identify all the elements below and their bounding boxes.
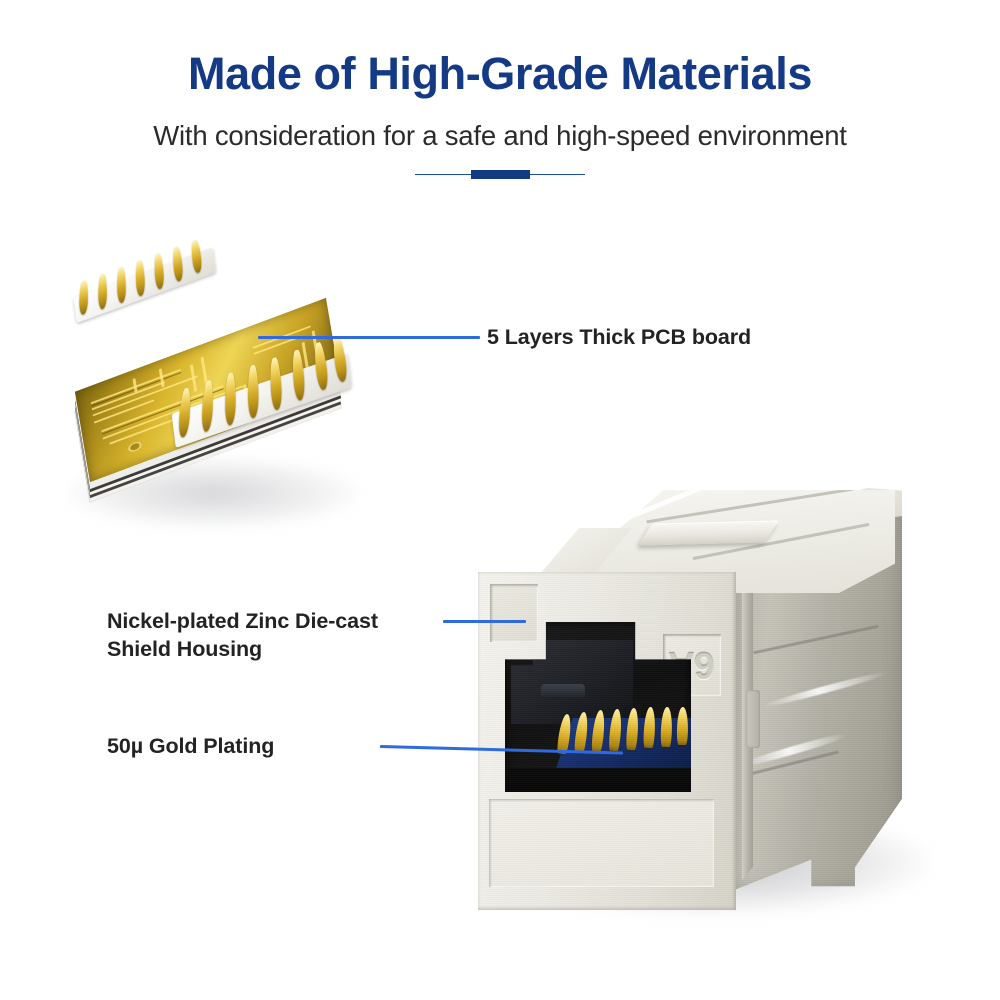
jack-port-latch-slot: [541, 684, 585, 697]
jack-front-bottom-plate: [489, 799, 714, 887]
leader-line-pcb: [258, 336, 480, 339]
page-subtitle: With consideration for a safe and high-s…: [0, 120, 1000, 152]
jack-latch-tab: [638, 520, 779, 545]
callout-label-shield: Nickel-plated Zinc Die-cast Shield Housi…: [107, 608, 378, 664]
divider-knob: [471, 170, 530, 179]
callout-label-pcb: 5 Layers Thick PCB board: [487, 324, 751, 352]
rj45-keystone-jack: 6A: [470, 480, 970, 940]
callout-label-gold: 50µ Gold Plating: [107, 733, 274, 761]
leader-line-shield: [443, 620, 526, 623]
infographic-canvas: Made of High-Grade Materials With consid…: [0, 0, 1000, 1000]
section-divider: [415, 169, 585, 181]
jack-front-recess-panel: [490, 584, 538, 642]
jack-port-floor: [505, 768, 691, 792]
jack-side-clip: [746, 690, 760, 748]
header-block: Made of High-Grade Materials With consid…: [0, 0, 1000, 200]
jack-foot: [806, 870, 880, 904]
pcb-board: [48, 243, 378, 553]
page-title: Made of High-Grade Materials: [0, 50, 1000, 98]
